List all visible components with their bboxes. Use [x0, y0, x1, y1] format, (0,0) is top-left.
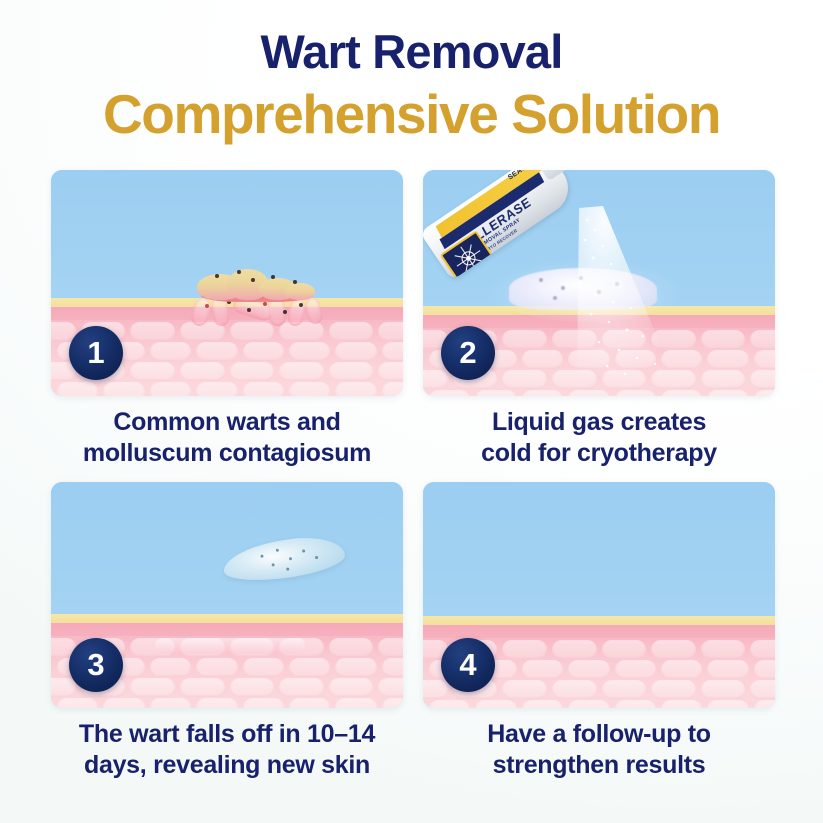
can-body: CHILLERASE WART REMOVAL SPRAY MEDICAL CR…	[423, 170, 578, 280]
epidermis-layer	[423, 616, 775, 625]
caption-line-1: The wart falls off in 10–14	[51, 719, 403, 750]
step-card-1: 1 Common warts and molluscum contagiosum	[51, 170, 403, 469]
step-caption-2: Liquid gas creates cold for cryotherapy	[423, 407, 775, 469]
caption-line-1: Have a follow-up to	[423, 719, 775, 750]
title-primary: Wart Removal	[0, 24, 823, 80]
step-card-4: 4 Have a follow-up to strengthen results	[423, 482, 775, 781]
illustration-panel-2: CHILLERASE WART REMOVAL SPRAY MEDICAL CR…	[423, 170, 775, 396]
title-secondary: Comprehensive Solution	[0, 82, 823, 146]
caption-line-1: Liquid gas creates	[423, 407, 775, 438]
caption-line-2: days, revealing new skin	[51, 750, 403, 781]
step-number-badge-1: 1	[69, 326, 123, 380]
infographic-page: Wart Removal Comprehensive Solution	[0, 0, 823, 823]
air-region	[51, 482, 403, 616]
illustration-panel-1: 1	[51, 170, 403, 396]
caption-line-2: cold for cryotherapy	[423, 438, 775, 469]
step-caption-1: Common warts and molluscum contagiosum	[51, 407, 403, 469]
caption-line-2: molluscum contagiosum	[51, 438, 403, 469]
step-number-badge-2: 2	[441, 326, 495, 380]
step-number-badge-4: 4	[441, 638, 495, 692]
step-card-3: 3 The wart falls off in 10–14 days, reve…	[51, 482, 403, 781]
caption-line-2: strengthen results	[423, 750, 775, 781]
air-region	[423, 482, 775, 618]
page-title: Wart Removal Comprehensive Solution	[0, 24, 823, 146]
illustration-panel-4: 4	[423, 482, 775, 708]
epidermis-layer	[51, 614, 403, 623]
step-card-2: CHILLERASE WART REMOVAL SPRAY MEDICAL CR…	[423, 170, 775, 469]
illustration-panel-3: 3	[51, 482, 403, 708]
step-caption-4: Have a follow-up to strengthen results	[423, 719, 775, 781]
new-skin-band	[155, 638, 305, 653]
caption-line-1: Common warts and	[51, 407, 403, 438]
step-number-badge-3: 3	[69, 638, 123, 692]
wart-lesion	[193, 266, 317, 300]
step-caption-3: The wart falls off in 10–14 days, reveal…	[51, 719, 403, 781]
